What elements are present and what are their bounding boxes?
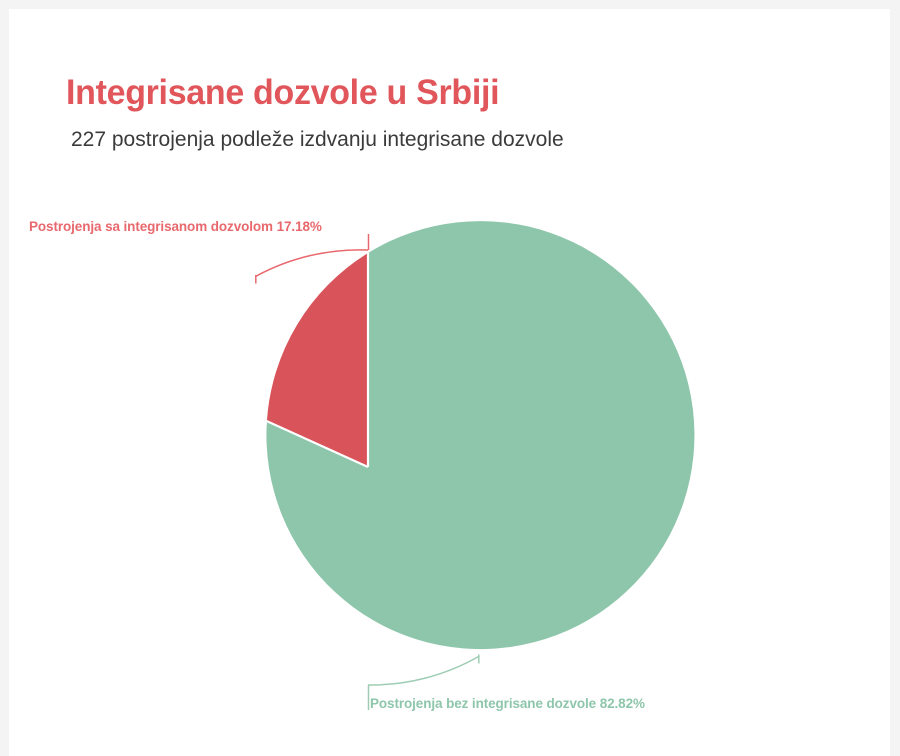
page-root: Integrisane dozvole u Srbiji 227 postroj…	[0, 0, 900, 756]
pie-chart-svg	[0, 0, 900, 756]
slice-label-postrojenja-sa-integrisanom-dozvolom: Postrojenja sa integrisanom dozvolom 17.…	[29, 219, 322, 235]
slice-label-postrojenja-bez-integrisane-dozvole: Postrojenja bez integrisane dozvole 82.8…	[370, 696, 645, 712]
pie-chart	[0, 0, 900, 756]
leader-arc-green	[368, 656, 480, 685]
